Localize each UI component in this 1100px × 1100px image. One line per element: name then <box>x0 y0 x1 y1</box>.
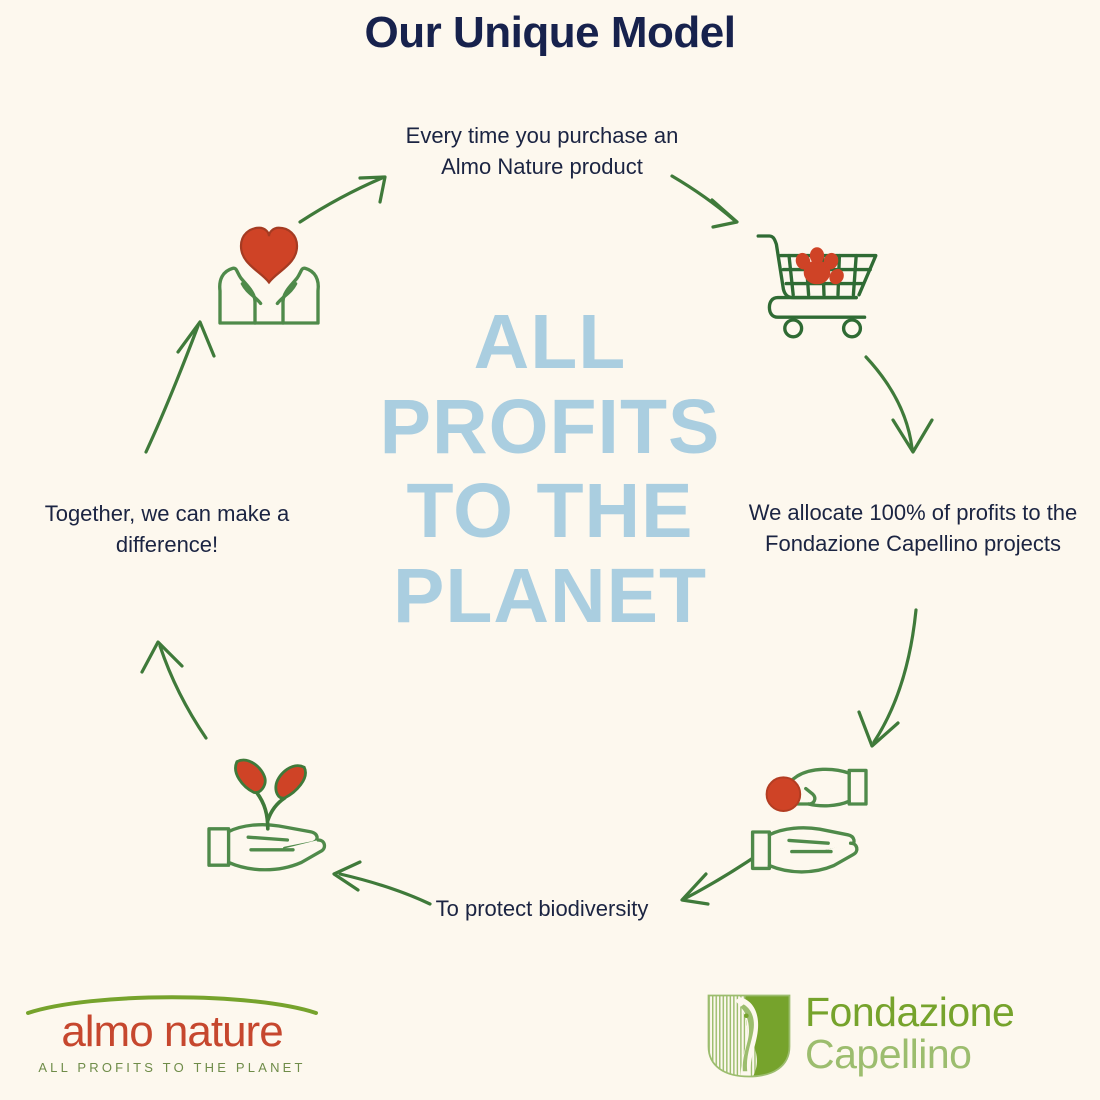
center-wordmark-line-4: PLANET <box>270 554 830 639</box>
caption-allocate: We allocate 100% of profits to the Fonda… <box>748 497 1078 559</box>
fondazione-shield-icon <box>705 992 793 1080</box>
page-title: Our Unique Model <box>0 8 1100 58</box>
center-wordmark-line-3: TO THE <box>270 469 830 554</box>
caption-purchase: Every time you purchase an Almo Nature p… <box>392 120 692 182</box>
caption-protect: To protect biodiversity <box>412 893 672 924</box>
fondazione-capellino-logo: Fondazione Capellino <box>705 988 1075 1088</box>
arrow-purchase-to-cart <box>672 176 737 227</box>
almo-nature-wordmark: almo nature <box>22 1010 322 1054</box>
arrow-plant-to-together <box>142 642 206 738</box>
arrow-allocate-to-giving <box>859 610 916 746</box>
fondazione-line-1: Fondazione <box>805 992 1075 1034</box>
center-wordmark-line-2: PROFITS <box>270 385 830 470</box>
caption-together: Together, we can make a difference! <box>42 498 292 560</box>
infographic-poster: Our Unique Model ALL PROFITS TO THE PLAN… <box>0 0 1100 1100</box>
fondazione-line-2: Capellino <box>805 1034 1075 1076</box>
plant-in-hand-icon <box>192 742 352 882</box>
heart-in-hands-icon <box>196 204 342 344</box>
giving-hands-icon <box>730 748 890 888</box>
fondazione-capellino-wordmark: Fondazione Capellino <box>805 992 1075 1076</box>
arrow-cart-to-allocate <box>866 357 932 452</box>
shopping-cart-icon <box>744 208 890 348</box>
almo-nature-tagline: ALL PROFITS TO THE PLANET <box>22 1060 322 1075</box>
center-wordmark: ALL PROFITS TO THE PLANET <box>270 300 830 639</box>
almo-nature-logo: almo nature ALL PROFITS TO THE PLANET <box>22 990 322 1085</box>
